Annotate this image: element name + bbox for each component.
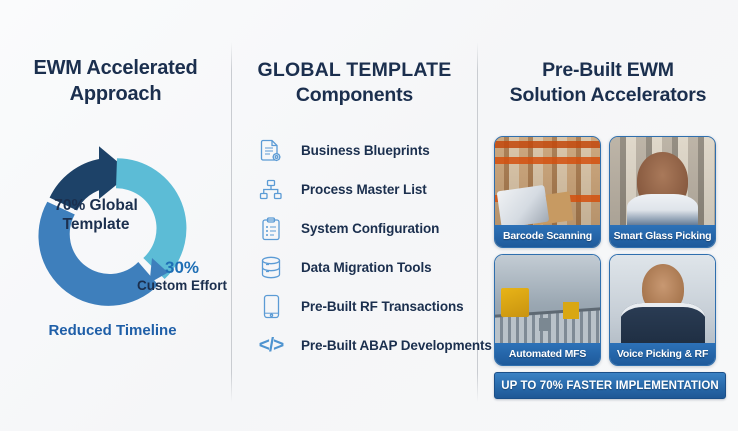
donut-center-label: 70% Global Template [41, 197, 151, 235]
list-item[interactable]: System Configuration [238, 209, 477, 248]
middle-title-line1: GLOBAL TEMPLATE [238, 58, 471, 83]
donut-center-line1: 70% Global [41, 197, 151, 216]
list-item[interactable]: Process Master List [238, 170, 477, 209]
tile-caption: Voice Picking & RF [610, 343, 715, 365]
custom-effort-percent: 30% [128, 258, 236, 278]
right-column: Pre-Built EWM Solution Accelerators Barc… [478, 0, 738, 431]
list-item[interactable]: Pre-Built RF Transactions [238, 287, 477, 326]
code-brackets-icon: </> [254, 331, 288, 361]
tile-caption: Smart Glass Picking [610, 225, 715, 247]
document-gear-icon [254, 136, 288, 166]
database-icon [254, 253, 288, 283]
accelerator-tile-barcode-scanning[interactable]: Barcode Scanning [494, 136, 601, 248]
list-item-label: Process Master List [301, 182, 427, 197]
left-title-line1: EWM Accelerated [8, 56, 223, 82]
custom-effort-label: Custom Effort [128, 278, 236, 294]
right-title-line2: Solution Accelerators [486, 83, 730, 108]
list-item-label: Pre-Built ABAP Developments [301, 338, 492, 353]
middle-title-line2: Components [238, 83, 471, 108]
infographic-root: EWM Accelerated Approach 70% Global Temp… [0, 0, 738, 431]
faster-implementation-banner: UP TO 70% FASTER IMPLEMENTATION [494, 372, 726, 399]
accelerator-tiles: Barcode Scanning Smart Glass Picking Aut… [494, 136, 722, 366]
tile-caption: Automated MFS [495, 343, 600, 365]
accelerator-tile-automated-mfs[interactable]: Automated MFS [494, 254, 601, 366]
list-item-label: Data Migration Tools [301, 260, 432, 275]
left-column: EWM Accelerated Approach 70% Global Temp… [0, 0, 231, 431]
list-item[interactable]: Data Migration Tools [238, 248, 477, 287]
accelerator-tile-smart-glass-picking[interactable]: Smart Glass Picking [609, 136, 716, 248]
components-list: Business Blueprints Process Master List [238, 131, 477, 365]
tile-caption: Barcode Scanning [495, 225, 600, 247]
accelerator-tile-voice-picking-rf[interactable]: Voice Picking & RF [609, 254, 716, 366]
donut-center-line2: Template [41, 216, 151, 235]
list-item[interactable]: </> Pre-Built ABAP Developments [238, 326, 477, 365]
mobile-device-icon [254, 292, 288, 322]
custom-effort-callout: 30% Custom Effort [128, 258, 236, 294]
middle-column-title: GLOBAL TEMPLATE Components [238, 58, 471, 108]
org-hierarchy-icon [254, 175, 288, 205]
list-item-label: System Configuration [301, 221, 439, 236]
left-column-title: EWM Accelerated Approach [8, 56, 223, 107]
right-title-line1: Pre-Built EWM [486, 58, 730, 83]
right-column-title: Pre-Built EWM Solution Accelerators [486, 58, 730, 108]
list-item-label: Business Blueprints [301, 143, 430, 158]
list-item-label: Pre-Built RF Transactions [301, 299, 464, 314]
left-title-line2: Approach [8, 82, 223, 108]
middle-column: GLOBAL TEMPLATE Components Business Blue… [232, 0, 477, 431]
reduced-timeline-label: Reduced Timeline [10, 322, 215, 339]
list-item[interactable]: Business Blueprints [238, 131, 477, 170]
clipboard-checklist-icon [254, 214, 288, 244]
